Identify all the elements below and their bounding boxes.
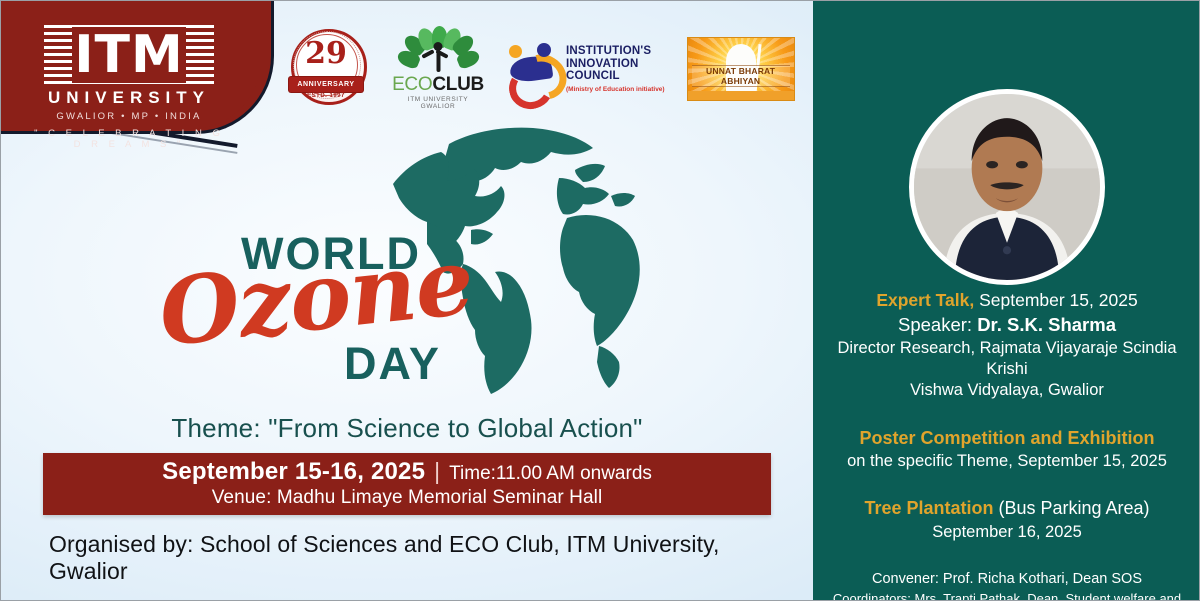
iic-line-1: INSTITUTION'S xyxy=(566,45,665,57)
speaker-affiliation-line-1: Director Research, Rajmata Vijayaraje Sc… xyxy=(821,338,1193,381)
event-date: September 15-16, 2025 xyxy=(162,458,425,485)
expert-talk-label: Expert Talk, xyxy=(876,290,974,310)
ecoclub-logo: ECOCLUB ITM UNIVERSITY GWALIOR xyxy=(391,28,485,110)
anniversary-logo: 29 ANNIVERSARY ESTD. 1997 xyxy=(283,27,369,111)
tree-plantation-location: (Bus Parking Area) xyxy=(993,498,1149,518)
coordinators-line-1: Coordinators: Mrs. Trapti Pathak, Dean, … xyxy=(821,590,1193,601)
poster-competition-subtitle: on the specific Theme, September 15, 202… xyxy=(821,450,1193,472)
ecoclub-lockup: ECOCLUB ITM UNIVERSITY GWALIOR xyxy=(391,28,485,110)
poster-canvas: ITM UNIVERSITY GWALIOR • MP • INDIA " C … xyxy=(0,0,1200,601)
anniversary-badge-icon: 29 ANNIVERSARY ESTD. 1997 xyxy=(283,27,369,111)
panel-text-content: Expert Talk, September 15, 2025 Speaker:… xyxy=(821,289,1193,601)
anniversary-ribbon: ANNIVERSARY xyxy=(289,77,363,92)
person-figure-icon xyxy=(434,42,443,72)
organised-by-text: Organised by: School of Sciences and ECO… xyxy=(49,531,789,585)
uba-base-bar xyxy=(688,91,794,100)
tree-plantation-date: September 16, 2025 xyxy=(821,521,1193,543)
speaker-line: Speaker: Dr. S.K. Sharma xyxy=(821,313,1193,338)
speaker-name: Dr. S.K. Sharma xyxy=(977,314,1116,335)
iic-swirl-icon xyxy=(507,41,559,97)
iic-line-3: COUNCIL xyxy=(566,70,665,82)
unnat-bharat-abhiyan-logo: UNNAT BHARAT ABHIYAN xyxy=(687,37,795,101)
event-title-block: WORLD Ozone DAY xyxy=(151,223,551,403)
iic-yellow-dot xyxy=(509,45,522,58)
itm-mark-text: ITM xyxy=(72,27,186,83)
uba-badge-icon: UNNAT BHARAT ABHIYAN xyxy=(687,37,795,101)
uba-label: UNNAT BHARAT ABHIYAN xyxy=(692,65,790,87)
poster-competition-block: Poster Competition and Exhibition on the… xyxy=(821,426,1193,473)
event-theme-text: Theme: "From Science to Global Action" xyxy=(1,413,813,444)
expert-talk-date: September 15, 2025 xyxy=(974,290,1137,310)
convener-text: Convener: Prof. Richa Kothari, Dean SOS xyxy=(821,569,1193,590)
itm-tagline-text: " C E L E B R A T I N G D R E A M S " xyxy=(29,128,229,150)
speaker-label: Speaker: xyxy=(898,314,977,335)
tree-plantation-block: Tree Plantation (Bus Parking Area) Septe… xyxy=(821,496,1193,543)
event-venue: Venue: Madhu Limaye Memorial Seminar Hal… xyxy=(212,487,603,509)
itm-university-text: UNIVERSITY xyxy=(29,89,229,108)
title-day: DAY xyxy=(344,341,441,386)
organisers-block: Convener: Prof. Richa Kothari, Dean SOS … xyxy=(821,569,1193,601)
iic-text-block: INSTITUTION'S INNOVATION COUNCIL (Minist… xyxy=(566,45,665,92)
date-time-line: September 15-16, 2025|Time:11.00 AM onwa… xyxy=(162,460,652,484)
speaker-affiliation-line-2: Vishwa Vidyalaya, Gwalior xyxy=(821,380,1193,401)
itm-wordmark-icon: ITM xyxy=(44,25,214,85)
tree-plantation-line: Tree Plantation (Bus Parking Area) xyxy=(821,496,1193,520)
ecoclub-eco-text: ECO xyxy=(392,74,432,95)
iic-logo: INSTITUTION'S INNOVATION COUNCIL (Minist… xyxy=(507,41,665,97)
iic-line-2: INNOVATION xyxy=(566,58,665,70)
speaker-portrait-avatar xyxy=(909,89,1105,285)
expert-talk-line: Expert Talk, September 15, 2025 xyxy=(821,289,1193,313)
expert-talk-block: Expert Talk, September 15, 2025 Speaker:… xyxy=(821,289,1193,402)
event-time: Time:11.00 AM onwards xyxy=(449,463,652,484)
tree-plantation-heading: Tree Plantation xyxy=(864,498,993,518)
speaker-info-panel: Expert Talk, September 15, 2025 Speaker:… xyxy=(813,1,1200,601)
anniversary-estd: ESTD. 1997 xyxy=(283,93,369,99)
itm-university-logo: ITM UNIVERSITY GWALIOR • MP • INDIA " C … xyxy=(29,25,229,150)
ecoclub-name: ECOCLUB xyxy=(391,75,485,94)
itm-letters: ITM xyxy=(44,25,214,85)
iic-ministry-note: (Ministry of Education initiative) xyxy=(566,86,665,93)
banner-separator: | xyxy=(425,458,449,484)
poster-competition-heading: Poster Competition and Exhibition xyxy=(821,426,1193,450)
anniversary-number: 29 xyxy=(283,39,369,69)
partner-logo-strip: 29 ANNIVERSARY ESTD. 1997 xyxy=(283,27,795,111)
main-content-area: ITM UNIVERSITY GWALIOR • MP • INDIA " C … xyxy=(1,1,813,601)
iic-blue-dot xyxy=(537,43,551,57)
date-venue-banner: September 15-16, 2025|Time:11.00 AM onwa… xyxy=(43,453,771,515)
itm-location-text: GWALIOR • MP • INDIA xyxy=(29,111,229,122)
ecoclub-club-text: CLUB xyxy=(432,74,484,95)
ecoclub-subtitle: ITM UNIVERSITY GWALIOR xyxy=(391,96,485,110)
iic-lockup: INSTITUTION'S INNOVATION COUNCIL (Minist… xyxy=(507,41,665,97)
ecoclub-tree-person-icon xyxy=(391,28,485,74)
